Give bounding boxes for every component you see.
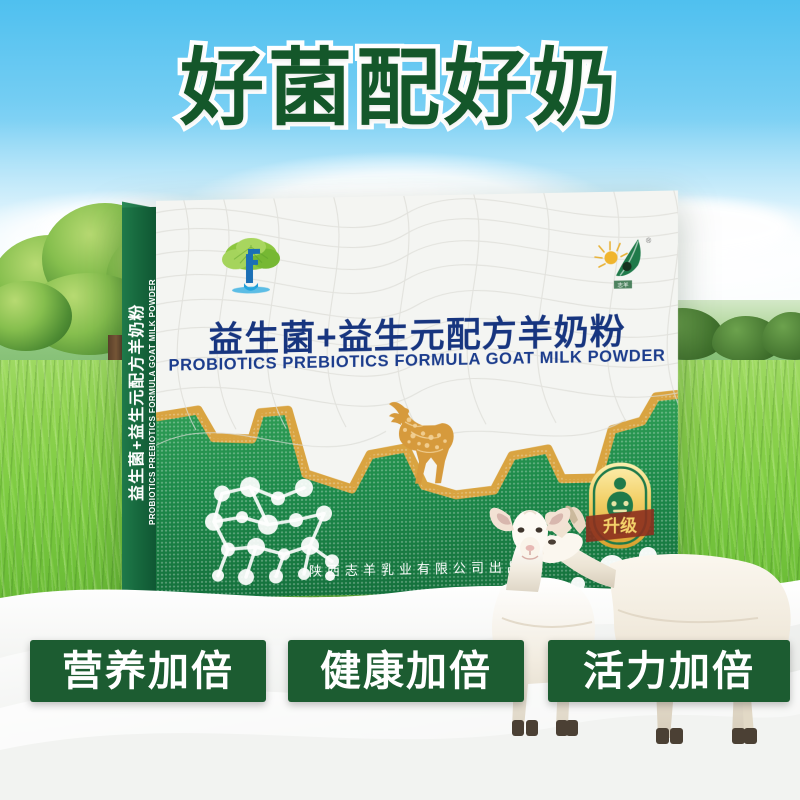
two-white-goats-photo[interactable] — [488, 490, 800, 762]
svg-text:®: ® — [646, 237, 652, 245]
side-panel-text: 益生菌+益生元配方羊奶粉 PROBIOTICS PREBIOTICS FORMU… — [123, 216, 157, 589]
badge-vitality[interactable]: 活力加倍 — [548, 640, 790, 702]
side-panel-title-cn: 益生菌+益生元配方羊奶粉 — [123, 216, 147, 588]
badge-nutrition[interactable]: 营养加倍 — [30, 640, 266, 702]
advertisement-poster: 益生菌+益生元配方羊奶粉 PROBIOTICS PREBIOTICS FORMU… — [0, 0, 800, 800]
page-title: 好菌配好奶 — [0, 46, 800, 130]
svg-text:志羊: 志羊 — [617, 281, 629, 289]
feature-badges: 营养加倍 健康加倍 活力加倍 — [0, 640, 800, 706]
tree-f-logo-icon — [220, 232, 282, 299]
goat-sun-brand-icon: ® 志羊 — [594, 231, 654, 296]
ornamental-goat-icon — [361, 391, 473, 497]
badge-health[interactable]: 健康加倍 — [288, 640, 524, 702]
